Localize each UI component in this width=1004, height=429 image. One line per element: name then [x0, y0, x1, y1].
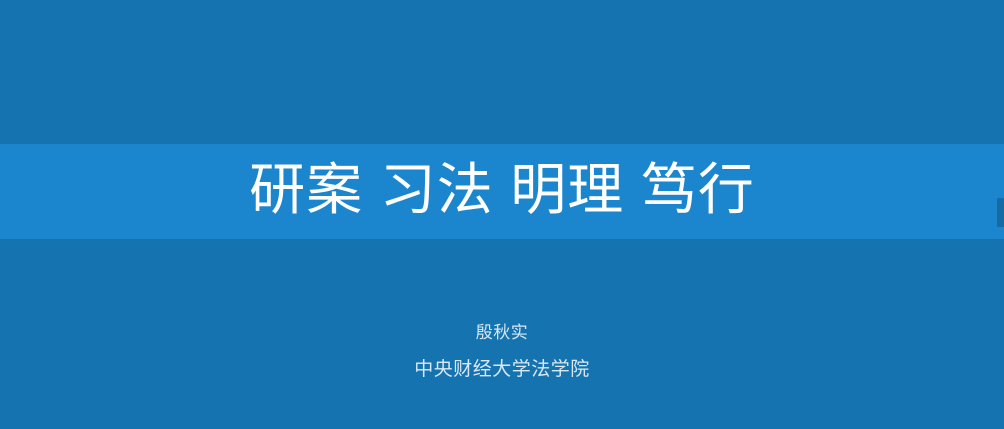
- slide-title: 研案 习法 明理 笃行: [249, 161, 755, 220]
- vertical-scrollbar[interactable]: [997, 0, 1004, 429]
- slide-background-top: [0, 0, 1004, 144]
- slide-affiliation: 中央财经大学法学院: [414, 354, 590, 381]
- slide-author-name: 殷秋实: [476, 318, 529, 343]
- slide-subtitle-area: 殷秋实 中央财经大学法学院: [0, 318, 1004, 381]
- vertical-scrollbar-thumb[interactable]: [997, 198, 1004, 227]
- slide-title-area: 研案 习法 明理 笃行: [0, 144, 1004, 239]
- presentation-slide: 研案 习法 明理 笃行 殷秋实 中央财经大学法学院: [0, 0, 1004, 429]
